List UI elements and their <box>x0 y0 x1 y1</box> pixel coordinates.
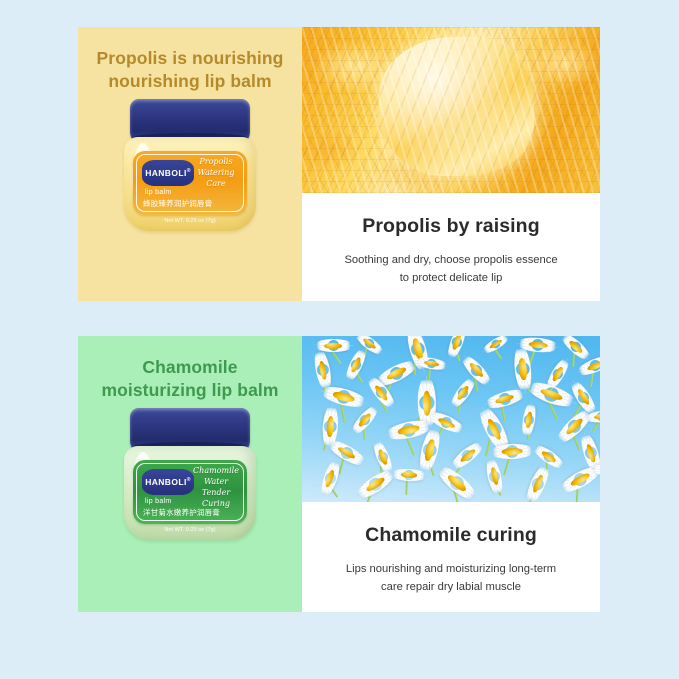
propolis-caption-title: Propolis by raising <box>362 215 539 238</box>
daisy-flower <box>531 441 567 471</box>
chamomile-jar: HANBOLI® Chamomile Water Tender Curing l… <box>124 408 256 540</box>
propolis-caption: Propolis by raising Soothing and dry, ch… <box>302 193 600 301</box>
daisy-flower <box>318 458 343 499</box>
daisy-flower <box>312 348 334 392</box>
chamomile-flowers-photo <box>302 336 600 502</box>
propolis-info-card: Propolis by raising Soothing and dry, ch… <box>302 27 600 301</box>
propolis-caption-subtitle: Soothing and dry, choose propolis essenc… <box>344 251 557 287</box>
propolis-panel: Propolis is nourishing nourishing lip ba… <box>78 27 302 301</box>
daisy-flower <box>484 457 505 498</box>
product-block-chamomile: Chamomile moisturizing lip balm HANBOLI®… <box>78 336 600 612</box>
jar-body: HANBOLI® Propolis Watering Care lip balm… <box>124 137 256 231</box>
jar-label-band: HANBOLI® Propolis Watering Care lip balm… <box>133 151 247 215</box>
jar-script-text: Chamomile Water Tender Curing <box>190 466 242 509</box>
chamomile-caption-title: Chamomile curing <box>365 524 537 547</box>
jar-chinese-text: 洋甘菊水嫩养护润唇膏 <box>143 507 237 518</box>
daisy-flower <box>448 375 479 411</box>
daisy-flower <box>352 466 397 502</box>
brand-name: HANBOLI® <box>145 168 191 178</box>
product-infographic: Propolis is nourishing nourishing lip ba… <box>0 0 679 679</box>
daisy-flower <box>520 401 537 438</box>
honeycomb-streaks <box>302 27 600 193</box>
brand-name: HANBOLI® <box>145 477 191 487</box>
jar-net-weight: Net WT. 0.25 oz (7g) <box>133 218 247 224</box>
propolis-panel-title: Propolis is nourishing nourishing lip ba… <box>87 47 294 93</box>
jar-label-band: HANBOLI® Chamomile Water Tender Curing l… <box>133 460 247 524</box>
daisy-flower <box>448 438 486 472</box>
jar-type-label: lip balm <box>145 189 172 196</box>
chamomile-info-card: Chamomile curing Lips nourishing and moi… <box>302 336 600 612</box>
daisy-field <box>302 336 600 502</box>
honeycomb-photo <box>302 27 600 193</box>
propolis-jar: HANBOLI® Propolis Watering Care lip balm… <box>124 99 256 231</box>
chamomile-panel: Chamomile moisturizing lip balm HANBOLI®… <box>78 336 302 612</box>
daisy-flower <box>489 443 534 459</box>
chamomile-caption-subtitle: Lips nourishing and moisturizing long-te… <box>346 560 556 596</box>
brand-badge: HANBOLI® <box>142 160 194 186</box>
jar-body: HANBOLI® Chamomile Water Tender Curing l… <box>124 446 256 540</box>
jar-script-text: Propolis Watering Care <box>190 157 242 189</box>
chamomile-caption: Chamomile curing Lips nourishing and moi… <box>302 502 600 612</box>
daisy-flower <box>319 383 369 411</box>
daisy-flower <box>523 462 553 502</box>
jar-chinese-text: 蜂胶臻养润护润唇膏 <box>143 198 237 209</box>
chamomile-panel-title: Chamomile moisturizing lip balm <box>91 356 288 402</box>
product-block-propolis: Propolis is nourishing nourishing lip ba… <box>78 27 600 301</box>
jar-net-weight: Net WT. 0.25 oz (7g) <box>133 527 247 533</box>
brand-badge: HANBOLI® <box>142 469 194 495</box>
daisy-flower <box>342 347 368 384</box>
jar-type-label: lip balm <box>145 498 172 505</box>
